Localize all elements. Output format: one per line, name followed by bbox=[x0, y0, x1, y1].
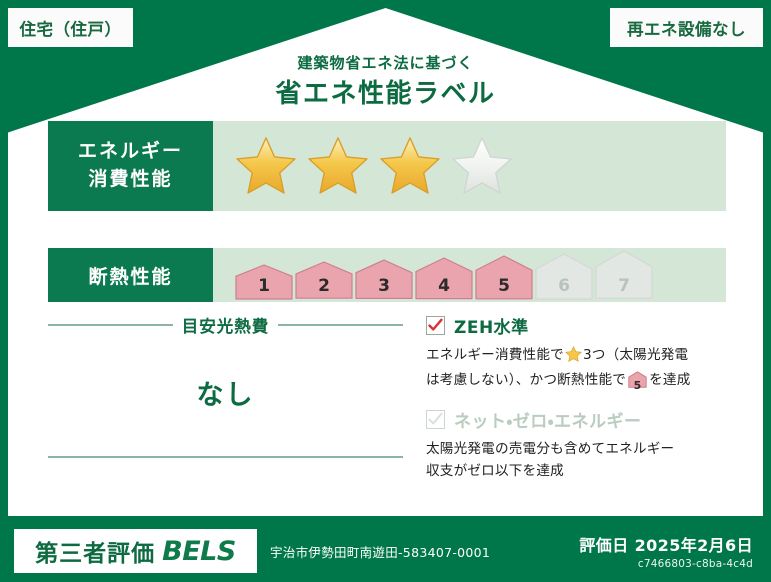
claims-block: ZEH水準 エネルギー消費性能で3つ（太陽光発電 は考慮しない）、かつ断熱性能で… bbox=[426, 313, 726, 486]
property-address: 宇治市伊勢田町南遊田-583407-0001 bbox=[270, 542, 579, 561]
row-energy-label: エネルギー 消費性能 bbox=[48, 121, 213, 211]
claim-zeh-body-mid: 3つ（太陽光発電 bbox=[583, 347, 688, 363]
inline-insulation-level-icon: 5 bbox=[628, 371, 647, 395]
claim-zeh-header: ZEH水準 bbox=[426, 313, 726, 338]
checkbox-checked-icon bbox=[426, 316, 445, 335]
claim-nze-body-line2: 収支がゼロ以下を達成 bbox=[426, 463, 564, 479]
claim-net-zero-energy-title: ネット・ゼロ・エネルギー bbox=[454, 407, 642, 432]
insulation-level-chip: 6 bbox=[535, 253, 593, 300]
insulation-level-scale: 1234567 bbox=[235, 250, 653, 299]
star-empty-icon bbox=[451, 136, 513, 196]
claim-zeh: ZEH水準 エネルギー消費性能で3つ（太陽光発電 は考慮しない）、かつ断熱性能で… bbox=[426, 313, 726, 395]
insulation-level-number: 3 bbox=[355, 276, 413, 296]
insulation-level-chip: 5 bbox=[475, 255, 533, 300]
row-energy-value bbox=[213, 121, 726, 211]
insulation-level-number: 4 bbox=[415, 276, 473, 296]
insulation-level-chip: 1 bbox=[235, 264, 293, 300]
row-insulation: 断熱性能 1234567 bbox=[48, 248, 726, 302]
claim-zeh-body-line2-pre: は考慮しない）、かつ断熱性能で bbox=[426, 372, 626, 388]
inline-insulation-level-value: 5 bbox=[628, 377, 647, 395]
utility-cost-heading-text: 目安光熱費 bbox=[182, 313, 270, 337]
inline-star-icon bbox=[565, 350, 582, 366]
claim-net-zero-energy-body: 太陽光発電の売電分も含めてエネルギー 収支がゼロ以下を達成 bbox=[426, 438, 726, 482]
utility-cost-heading: 目安光熱費 bbox=[48, 313, 403, 337]
evaluation-meta: 評価日 2025年2月6日 c7466803-c8ba-4c4d bbox=[579, 532, 753, 570]
bels-logo: 第三者評価 BELS bbox=[14, 529, 257, 573]
title-subtext: 建築物省エネ法に基づく bbox=[8, 53, 763, 74]
claim-zeh-body-line2-post: を達成 bbox=[649, 372, 690, 388]
row-energy-consumption: エネルギー 消費性能 bbox=[48, 121, 726, 211]
star-rating bbox=[235, 136, 513, 196]
star-filled-icon bbox=[379, 136, 441, 196]
page-title: 建築物省エネ法に基づく 省エネ性能ラベル bbox=[8, 53, 763, 112]
footer: 第三者評価 BELS 宇治市伊勢田町南遊田-583407-0001 評価日 20… bbox=[0, 520, 771, 582]
insulation-level-number: 6 bbox=[535, 276, 593, 296]
utility-cost-value: なし bbox=[48, 373, 403, 412]
bels-logo-en: BELS bbox=[162, 536, 236, 567]
utility-cost-bottom-rule bbox=[48, 456, 403, 458]
star-filled-icon bbox=[235, 136, 297, 196]
checkbox-unchecked-icon bbox=[426, 410, 445, 429]
row-insulation-value: 1234567 bbox=[213, 248, 726, 302]
claim-nze-body-line1: 太陽光発電の売電分も含めてエネルギー bbox=[426, 441, 674, 457]
badge-renewable-equipment: 再エネ設備なし bbox=[610, 8, 763, 47]
insulation-level-number: 2 bbox=[295, 276, 353, 296]
insulation-level-number: 7 bbox=[595, 276, 653, 296]
bels-logo-jp: 第三者評価 bbox=[35, 534, 155, 568]
utility-cost-block: 目安光熱費 なし bbox=[48, 313, 403, 458]
label-content: 建築物省エネ法に基づく 省エネ性能ラベル エネルギー 消費性能 断熱性能 123… bbox=[8, 8, 763, 516]
title-maintext: 省エネ性能ラベル bbox=[8, 78, 763, 112]
claim-net-zero-energy: ネット・ゼロ・エネルギー 太陽光発電の売電分も含めてエネルギー 収支がゼロ以下を… bbox=[426, 407, 726, 482]
rule-right bbox=[278, 324, 403, 326]
row-insulation-label: 断熱性能 bbox=[48, 248, 213, 302]
insulation-level-number: 1 bbox=[235, 276, 293, 296]
energy-performance-label: 住宅（住戸） 再エネ設備なし 建築物省エネ法に基づく 省エネ性能ラベル エネルギ… bbox=[0, 0, 771, 582]
insulation-level-number: 5 bbox=[475, 276, 533, 296]
row-energy-label-line2: 消費性能 bbox=[78, 166, 183, 194]
claim-zeh-body: エネルギー消費性能で3つ（太陽光発電 は考慮しない）、かつ断熱性能で5を達成 bbox=[426, 344, 726, 395]
insulation-level-chip: 4 bbox=[415, 257, 473, 300]
evaluation-date-value: 2025年2月6日 bbox=[635, 536, 753, 555]
evaluation-date-label: 評価日 bbox=[579, 536, 628, 555]
row-energy-label-line1: エネルギー bbox=[78, 138, 183, 166]
insulation-level-chip: 7 bbox=[595, 250, 653, 299]
insulation-level-chip: 3 bbox=[355, 259, 413, 299]
star-filled-icon bbox=[307, 136, 369, 196]
claim-net-zero-energy-header: ネット・ゼロ・エネルギー bbox=[426, 407, 726, 432]
badge-building-type: 住宅（住戸） bbox=[8, 8, 133, 47]
rule-left bbox=[48, 324, 173, 326]
evaluation-date: 評価日 2025年2月6日 bbox=[579, 532, 753, 556]
evaluation-id: c7466803-c8ba-4c4d bbox=[579, 558, 753, 570]
insulation-level-chip: 2 bbox=[295, 261, 353, 299]
claim-zeh-body-pre: エネルギー消費性能で bbox=[426, 347, 564, 363]
claim-zeh-title: ZEH水準 bbox=[454, 313, 529, 338]
